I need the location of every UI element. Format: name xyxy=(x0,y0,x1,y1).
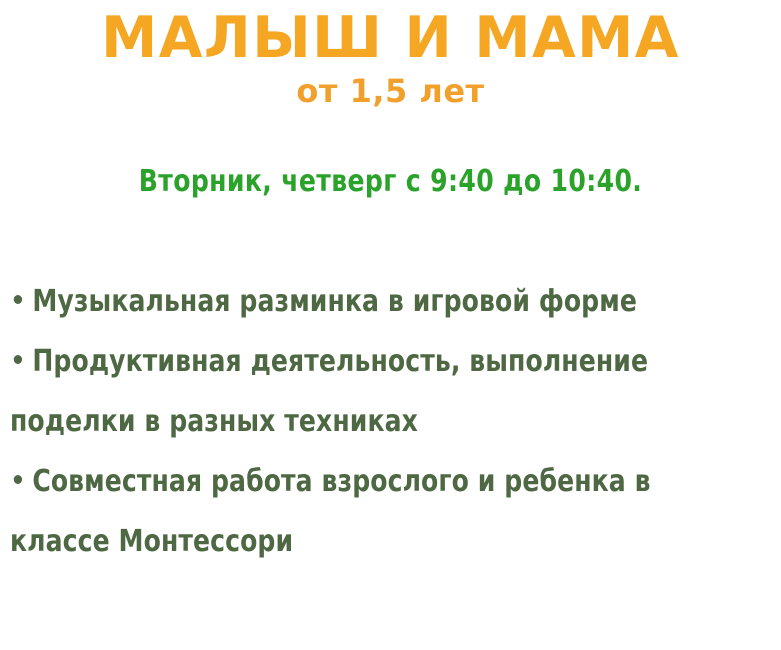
list-item-label: классе Монтессори xyxy=(10,524,293,559)
list-item-label: Музыкальная разминка в игровой форме xyxy=(32,284,637,319)
list-item: Продуктивная деятельность, выполнение xyxy=(10,332,719,392)
list-item: Музыкальная разминка в игровой форме xyxy=(10,272,719,332)
list-item-label: Продуктивная деятельность, выполнение xyxy=(32,344,648,379)
page-subtitle-age: от 1,5 лет xyxy=(0,72,781,110)
list-item-continuation: поделки в разных техниках xyxy=(10,392,719,452)
schedule-text: Вторник, четверг с 9:40 до 10:40. xyxy=(27,163,753,201)
heading-block: МАЛЫШ И МАМА от 1,5 лет xyxy=(0,6,781,110)
list-item-continuation: классе Монтессори xyxy=(10,512,719,572)
list-item-label: поделки в разных техниках xyxy=(10,404,418,439)
list-item-label: Совместная работа взрослого и ребенка в xyxy=(32,464,650,499)
bullet-dot-icon xyxy=(14,475,22,484)
activity-list: Музыкальная разминка в игровой форме Про… xyxy=(10,272,772,572)
bullet-dot-icon xyxy=(14,295,22,304)
page-title: МАЛЫШ И МАМА xyxy=(4,6,777,70)
bullet-dot-icon xyxy=(14,355,22,364)
poster-canvas: МАЛЫШ И МАМА от 1,5 лет Вторник, четверг… xyxy=(0,0,781,650)
list-item: Совместная работа взрослого и ребенка в xyxy=(10,452,719,512)
